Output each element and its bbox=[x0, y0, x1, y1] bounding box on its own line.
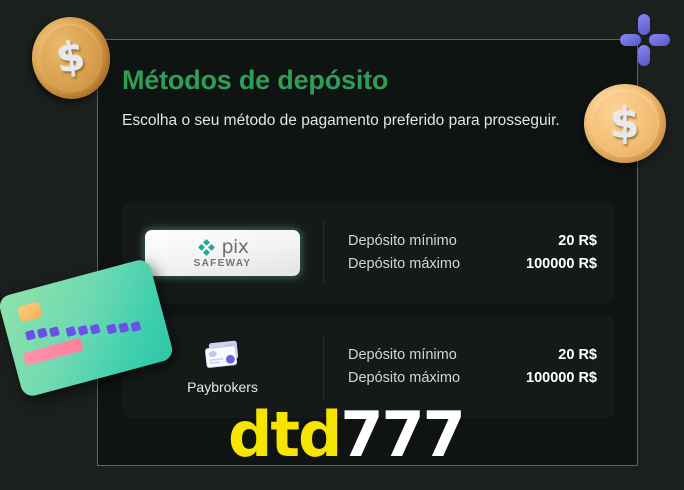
maximum-deposit-label: Depósito máximo bbox=[348, 253, 460, 275]
minimum-deposit-label: Depósito mínimo bbox=[348, 230, 457, 252]
maximum-deposit-value: 100000 R$ bbox=[526, 253, 597, 275]
card-number-block bbox=[118, 322, 129, 333]
watermark-logo: dtd777 bbox=[228, 404, 464, 466]
watermark-part-a: dtd bbox=[228, 398, 340, 471]
minimum-deposit-line: Depósito mínimo 20 R$ bbox=[348, 230, 597, 252]
card-number-block bbox=[77, 325, 88, 336]
maximum-deposit-label: Depósito máximo bbox=[348, 367, 460, 389]
pix-logo-row: pix bbox=[196, 237, 248, 258]
card-magnetic-stripe bbox=[22, 338, 83, 366]
coin-dollar-glyph: $ bbox=[584, 84, 666, 163]
card-number-block bbox=[130, 321, 141, 332]
minimum-deposit-value: 20 R$ bbox=[558, 230, 597, 252]
pix-wordmark: pix bbox=[221, 238, 248, 257]
minimum-deposit-value: 20 R$ bbox=[558, 344, 597, 366]
dollar-coin-icon: $ bbox=[584, 84, 666, 163]
dollar-coin-icon: $ bbox=[26, 11, 116, 104]
pix-safeway-logo[interactable]: pix SAFEWAY bbox=[122, 230, 323, 276]
coin-dollar-glyph: $ bbox=[26, 11, 116, 104]
card-number-block bbox=[65, 326, 76, 337]
payment-method-pix-safeway[interactable]: pix SAFEWAY Depósito mínimo 20 R$ Depósi… bbox=[122, 201, 615, 304]
minimum-deposit-line: Depósito mínimo 20 R$ bbox=[348, 344, 597, 366]
pix-safeway-limits: Depósito mínimo 20 R$ Depósito máximo 10… bbox=[324, 230, 615, 275]
card-number-block bbox=[90, 324, 101, 335]
card-number-block bbox=[37, 327, 48, 338]
card-number-block bbox=[25, 330, 36, 341]
maximum-deposit-value: 100000 R$ bbox=[526, 367, 597, 389]
pix-logo-plate: pix SAFEWAY bbox=[145, 230, 300, 276]
card-number-block bbox=[49, 326, 60, 337]
payment-methods-list: pix SAFEWAY Depósito mínimo 20 R$ Depósi… bbox=[122, 201, 615, 429]
watermark-part-b: 777 bbox=[340, 398, 463, 471]
screenshot-root: Métodos de depósito Escolha o seu método… bbox=[0, 0, 684, 490]
card-chip-icon bbox=[17, 301, 42, 322]
safeway-wordmark: SAFEWAY bbox=[194, 259, 252, 269]
paybrokers-limits: Depósito mínimo 20 R$ Depósito máximo 10… bbox=[324, 344, 615, 389]
page-title: Métodos de depósito bbox=[122, 66, 613, 96]
paybrokers-label: Paybrokers bbox=[187, 379, 258, 395]
minimum-deposit-label: Depósito mínimo bbox=[348, 344, 457, 366]
paybrokers-cards-icon bbox=[200, 339, 246, 373]
pix-diamond-icon bbox=[196, 237, 217, 258]
page-subtitle: Escolha o seu método de pagamento prefer… bbox=[122, 110, 572, 132]
sparkle-icon bbox=[620, 14, 668, 66]
maximum-deposit-line: Depósito máximo 100000 R$ bbox=[348, 367, 597, 389]
maximum-deposit-line: Depósito máximo 100000 R$ bbox=[348, 253, 597, 275]
card-number-block bbox=[106, 323, 117, 334]
